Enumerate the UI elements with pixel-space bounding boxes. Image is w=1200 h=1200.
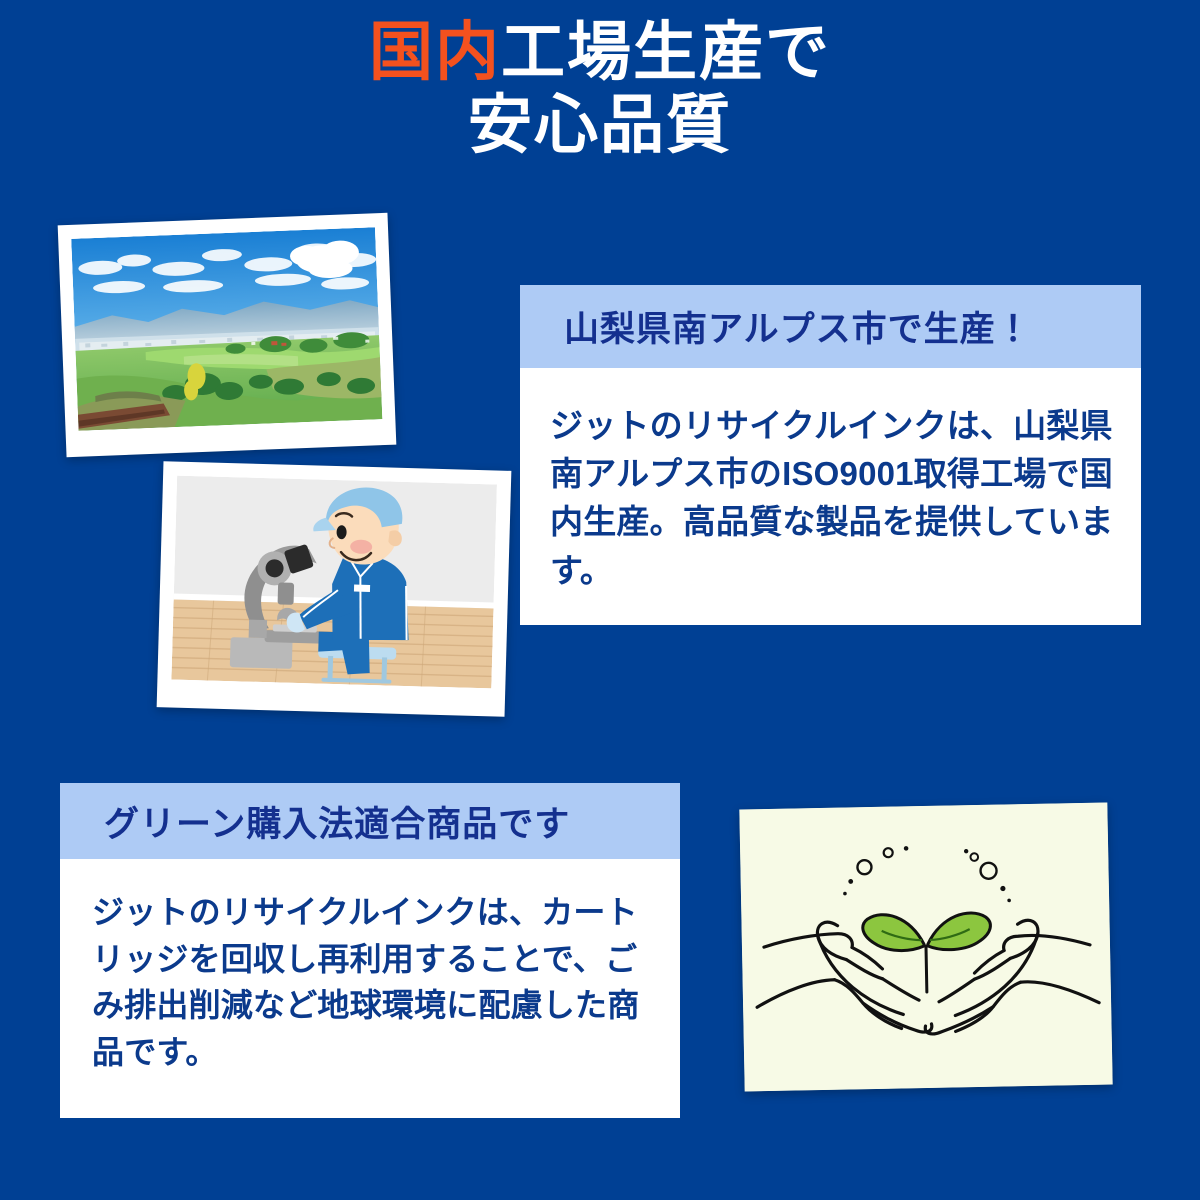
page-title: 国内工場生産で 安心品質 bbox=[0, 16, 1200, 162]
card-green-body-text: ジットのリサイクルインクは、カートリッジを回収し再利用することで、ごみ排出削減な… bbox=[92, 889, 660, 1076]
worker-microscope-image bbox=[171, 476, 497, 689]
title-line-1: 国内工場生産で bbox=[0, 16, 1200, 89]
title-rest-text: 工場生産で bbox=[501, 16, 831, 88]
card-green-heading: グリーン購入法適合商品です bbox=[60, 783, 680, 859]
hands-sprout-illustration bbox=[739, 802, 1112, 1091]
title-line-2: 安心品質 bbox=[0, 89, 1200, 162]
hands-sprout-image bbox=[739, 802, 1112, 1091]
title-accent-text: 国内 bbox=[369, 16, 501, 88]
infographic-canvas: 国内工場生産で 安心品質 bbox=[0, 0, 1200, 1200]
card-production-body: ジットのリサイクルインクは、山梨県南アルプス市のISO9001取得工場で国内生産… bbox=[520, 368, 1141, 625]
card-production: 山梨県南アルプス市で生産！ ジットのリサイクルインクは、山梨県南アルプス市のIS… bbox=[520, 285, 1141, 625]
rural-landscape-photo bbox=[58, 213, 397, 457]
card-production-heading: 山梨県南アルプス市で生産！ bbox=[520, 285, 1141, 368]
worker-microscope-illustration bbox=[157, 461, 512, 717]
card-green-body: ジットのリサイクルインクは、カートリッジを回収し再利用することで、ごみ排出削減な… bbox=[60, 859, 680, 1118]
card-production-body-text: ジットのリサイクルインクは、山梨県南アルプス市のISO9001取得工場で国内生産… bbox=[550, 402, 1117, 595]
rural-landscape-photo-image bbox=[71, 227, 382, 431]
card-green: グリーン購入法適合商品です ジットのリサイクルインクは、カートリッジを回収し再利… bbox=[60, 783, 680, 1118]
